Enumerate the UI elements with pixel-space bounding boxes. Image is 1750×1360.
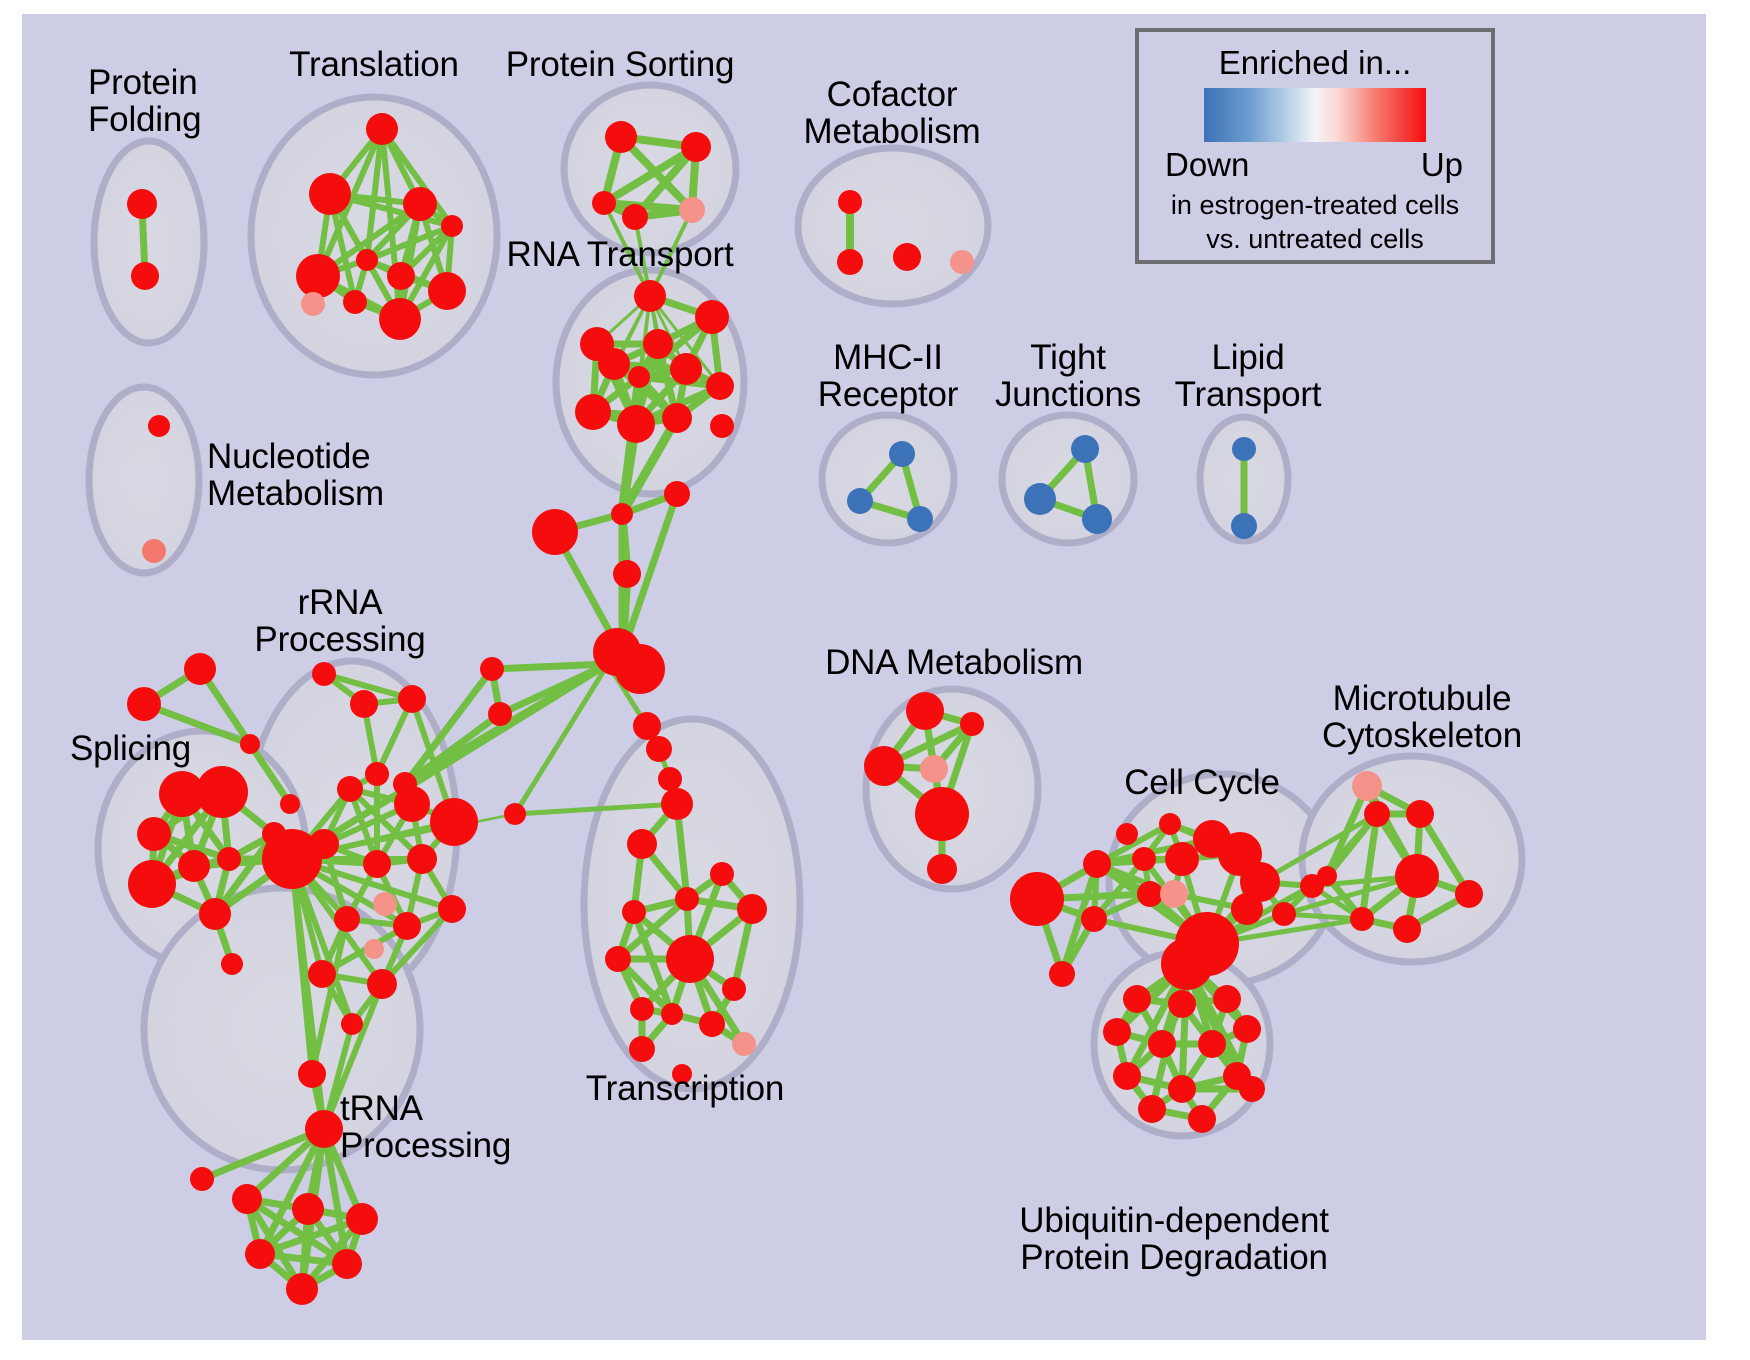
cluster-label-protein-sorting: Protein Sorting xyxy=(506,46,735,83)
cluster-label-cell-cycle: Cell Cycle xyxy=(1124,764,1280,801)
legend-subtitle-line2: vs. untreated cells xyxy=(1206,224,1424,255)
bubble-tight-junctions xyxy=(1002,415,1134,543)
legend-subtitle-line1: in estrogen-treated cells xyxy=(1171,190,1459,221)
cluster-label-lipid-transport: Lipid Transport xyxy=(1175,339,1322,414)
bubble-protein-folding xyxy=(94,141,204,343)
cluster-label-mhc-ii-receptor: MHC-II Receptor xyxy=(818,339,958,414)
legend-title: Enriched in... xyxy=(1219,44,1412,82)
cluster-label-transcription: Transcription xyxy=(586,1070,784,1107)
cluster-label-protein-folding: Protein Folding xyxy=(88,64,201,139)
cluster-label-cofactor-metabolism: Cofactor Metabolism xyxy=(804,76,981,151)
cluster-label-tight-junctions: Tight Junctions xyxy=(995,339,1141,414)
cluster-label-splicing: Splicing xyxy=(70,730,191,767)
legend-colorbar xyxy=(1204,88,1426,142)
bubble-cofactor xyxy=(798,148,988,304)
network-canvas: Protein Folding Translation Protein Sort… xyxy=(22,14,1706,1340)
cluster-label-rna-transport: RNA Transport xyxy=(507,236,734,273)
legend-box: Enriched in... Down Up in estrogen-treat… xyxy=(1135,28,1495,264)
cluster-label-translation: Translation xyxy=(289,46,459,83)
cluster-label-nucleotide-metabolism: Nucleotide Metabolism xyxy=(207,438,384,513)
cluster-label-ubiquitin-degradation: Ubiquitin-dependent Protein Degradation xyxy=(1019,1202,1329,1277)
legend-down-label: Down xyxy=(1165,146,1249,184)
legend-up-label: Up xyxy=(1421,146,1463,184)
cluster-label-dna-metabolism: DNA Metabolism xyxy=(825,644,1083,681)
cluster-label-microtubule-cytoskeleton: Microtubule Cytoskeleton xyxy=(1322,680,1522,755)
cluster-label-rrna-processing: rRNA Processing xyxy=(254,584,425,659)
figure-root: Protein Folding Translation Protein Sort… xyxy=(0,0,1750,1360)
cluster-label-trna-processing: tRNA Processing xyxy=(340,1090,511,1165)
bubble-mhc xyxy=(822,415,954,543)
